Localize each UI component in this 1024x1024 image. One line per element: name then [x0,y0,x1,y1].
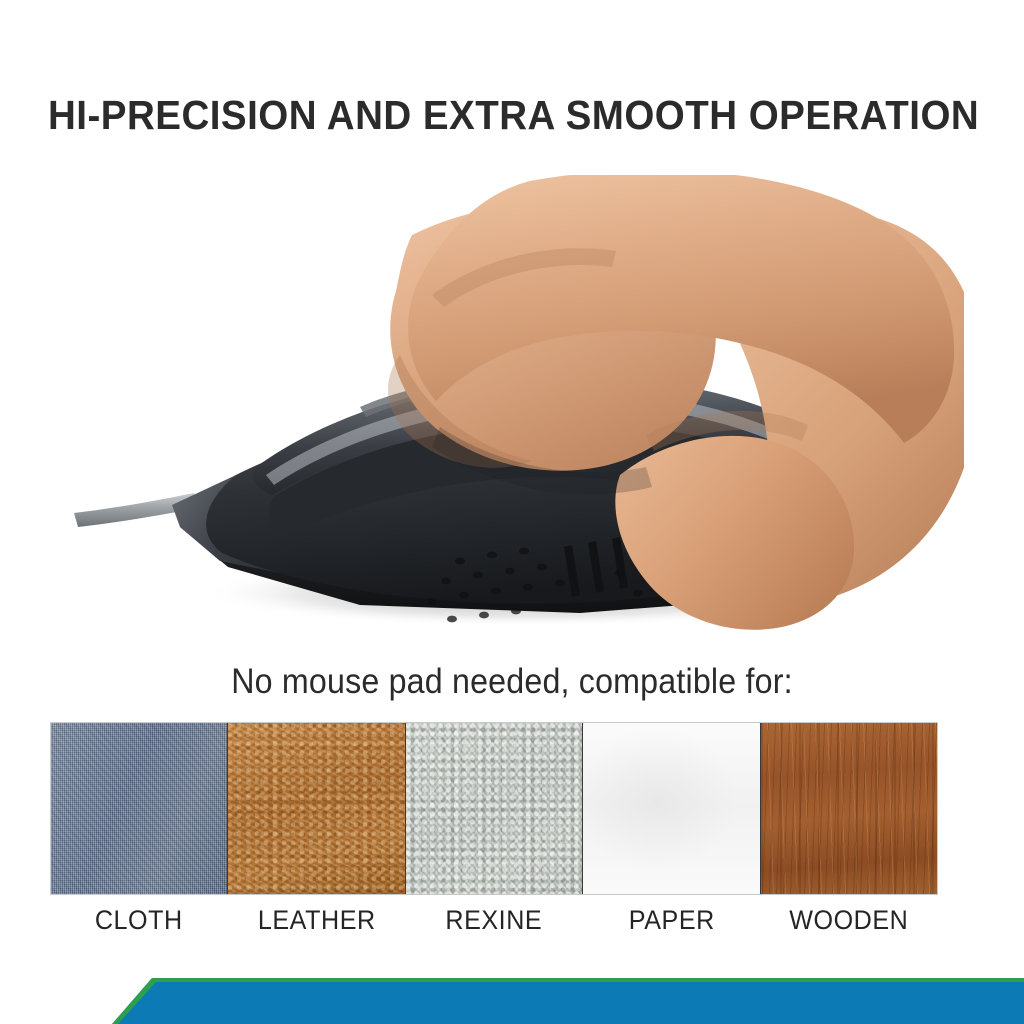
hand-on-mouse-illustration [60,175,964,655]
swatch-cloth [51,723,228,894]
accent-bar-shape [0,966,1024,1024]
page-title: HI-PRECISION AND EXTRA SMOOTH OPERATION [48,92,920,139]
accent-bar-fill [112,978,1024,1024]
surface-swatch-strip [50,722,938,895]
cloth-texture [51,723,227,894]
swatch-label-wooden: WOODEN [767,905,932,947]
surface-label-row: CLOTH LEATHER REXINE PAPER WOODEN [50,905,938,947]
leather-texture [228,723,404,894]
section-subtitle: No mouse pad needed, compatible for: [41,662,983,702]
paper-texture [583,723,759,894]
wooden-texture [761,723,937,894]
rexine-texture [406,723,582,894]
swatch-label-cloth: CLOTH [56,905,221,947]
bottom-accent-bar [0,966,1024,1024]
product-photo [60,175,964,655]
swatch-leather [228,723,405,894]
swatch-label-rexine: REXINE [411,905,576,947]
swatch-paper [583,723,760,894]
swatch-wooden [761,723,937,894]
swatch-rexine [406,723,583,894]
swatch-label-paper: PAPER [589,905,754,947]
swatch-label-leather: LEATHER [234,905,399,947]
product-feature-poster: HI-PRECISION AND EXTRA SMOOTH OPERATION [0,0,1024,1024]
